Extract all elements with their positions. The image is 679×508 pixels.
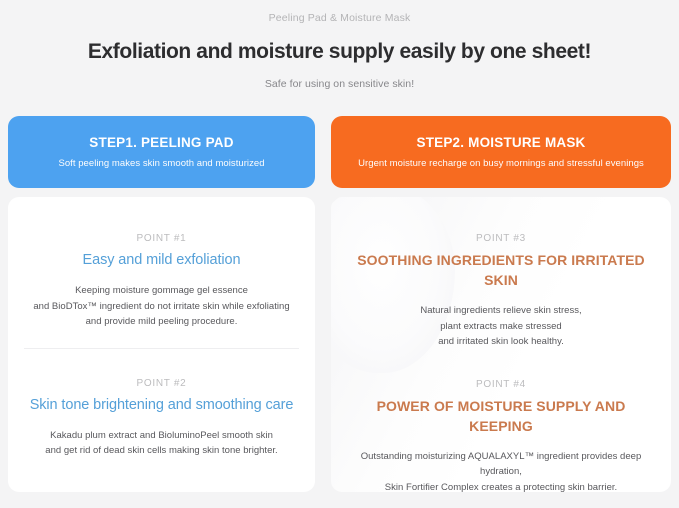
point-body-2: Kakadu plum extract and BioluminoPeel sm…: [22, 428, 301, 459]
point-title-4: POWER OF MOISTURE SUPPLY AND KEEPING: [345, 396, 657, 436]
point-body-1: Keeping moisture gommage gel essence and…: [22, 283, 301, 330]
points-card-1: POINT #1 Easy and mild exfoliation Keepi…: [8, 197, 315, 492]
step-banner-2: STEP2. MOISTURE MASK Urgent moisture rec…: [331, 116, 671, 188]
step-column-2: STEP2. MOISTURE MASK Urgent moisture rec…: [331, 116, 671, 492]
page-eyebrow: Peeling Pad & Moisture Mask: [0, 11, 679, 25]
point-body-line: Natural ingredients relieve skin stress,: [345, 303, 657, 319]
point-title-3: SOOTHING INGREDIENTS FOR IRRITATED SKIN: [345, 250, 657, 290]
page-header: Peeling Pad & Moisture Mask Exfoliation …: [0, 0, 679, 91]
page-subtitle: Safe for using on sensitive skin!: [0, 77, 679, 91]
steps-columns: STEP1. PEELING PAD Soft peeling makes sk…: [8, 116, 671, 492]
step-banner-title-2: STEP2. MOISTURE MASK: [416, 134, 585, 152]
point-label-3: POINT #3: [345, 232, 657, 245]
point-label-4: POINT #4: [345, 378, 657, 391]
step-banner-subtitle-1: Soft peeling makes skin smooth and moist…: [58, 157, 264, 170]
point-body-line: Skin Fortifier Complex creates a protect…: [345, 480, 657, 493]
step-column-1: STEP1. PEELING PAD Soft peeling makes sk…: [8, 116, 315, 492]
point-body-line: and get rid of dead skin cells making sk…: [22, 443, 301, 459]
point-title-1: Easy and mild exfoliation: [22, 250, 301, 270]
step-banner-subtitle-2: Urgent moisture recharge on busy morning…: [358, 157, 644, 170]
point-body-line: and BioDTox™ ingredient do not irritate …: [22, 299, 301, 315]
point-block-1: POINT #1 Easy and mild exfoliation Keepi…: [8, 197, 315, 348]
point-body-line: Outstanding moisturizing AQUALAXYL™ ingr…: [345, 449, 657, 480]
step-banner-1: STEP1. PEELING PAD Soft peeling makes sk…: [8, 116, 315, 188]
point-body-line: and irritated skin look healthy.: [345, 334, 657, 350]
point-body-line: and provide mild peeling procedure.: [22, 314, 301, 330]
point-block-2: POINT #2 Skin tone brightening and smoot…: [8, 349, 315, 493]
point-label-1: POINT #1: [22, 232, 301, 245]
page-title: Exfoliation and moisture supply easily b…: [0, 38, 679, 65]
point-body-3: Natural ingredients relieve skin stress,…: [345, 303, 657, 350]
point-body-line: Kakadu plum extract and BioluminoPeel sm…: [22, 428, 301, 444]
point-body-line: Keeping moisture gommage gel essence: [22, 283, 301, 299]
step-banner-title-1: STEP1. PEELING PAD: [89, 134, 233, 152]
point-body-line: plant extracts make stressed: [345, 319, 657, 335]
point-label-2: POINT #2: [22, 377, 301, 390]
point-title-2: Skin tone brightening and smoothing care: [22, 395, 301, 415]
product-detail-page: Peeling Pad & Moisture Mask Exfoliation …: [0, 0, 679, 508]
point-block-3: POINT #3 SOOTHING INGREDIENTS FOR IRRITA…: [331, 197, 671, 350]
point-block-4: POINT #4 POWER OF MOISTURE SUPPLY AND KE…: [331, 350, 671, 493]
point-body-4: Outstanding moisturizing AQUALAXYL™ ingr…: [345, 449, 657, 493]
points-card-2: POINT #3 SOOTHING INGREDIENTS FOR IRRITA…: [331, 197, 671, 492]
